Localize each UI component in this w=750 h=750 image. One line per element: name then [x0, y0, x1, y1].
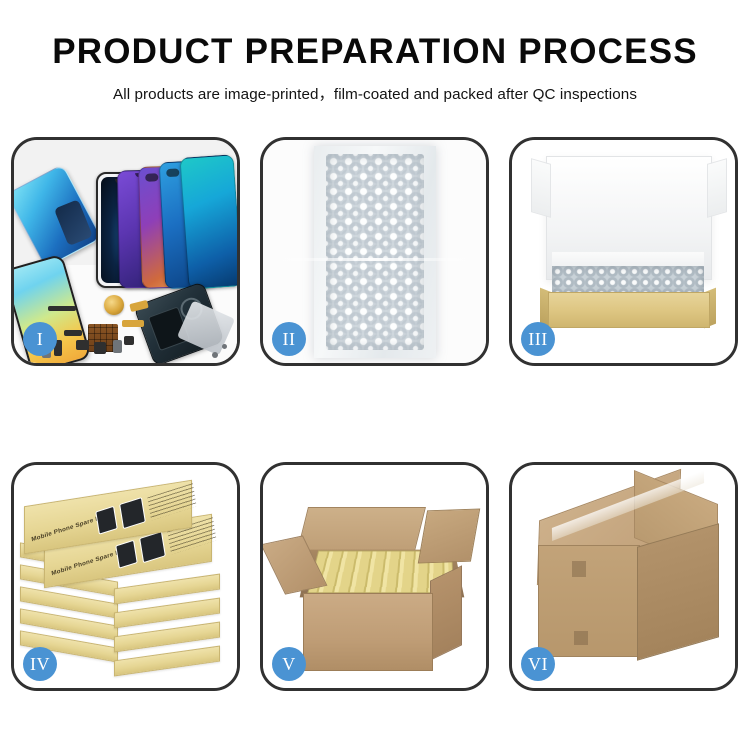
process-step-panel-6[interactable]: VI	[509, 462, 738, 691]
carton-front-face-icon	[538, 545, 640, 657]
button-flex-part-icon	[64, 330, 82, 336]
process-step-grid: I II III	[11, 137, 739, 691]
carton-seam-icon	[574, 631, 588, 645]
flex-cable-part-icon	[122, 320, 144, 327]
step-badge-4: IV	[23, 647, 57, 681]
process-step-panel-3[interactable]: III	[509, 137, 738, 366]
carton-front-icon	[303, 593, 433, 671]
header: PRODUCT PREPARATION PROCESS All products…	[0, 34, 750, 104]
box-print-phone-image	[119, 497, 146, 529]
step-badge-5: V	[272, 647, 306, 681]
box-print-phone-image	[139, 531, 166, 563]
vibration-coil-part-icon	[104, 295, 124, 315]
carton-side-face-icon	[637, 523, 719, 661]
page-title: PRODUCT PREPARATION PROCESS	[0, 34, 750, 71]
box-print-phone-image	[95, 506, 118, 535]
taptic-part-icon	[124, 336, 134, 345]
carton-right-side-icon	[430, 565, 462, 661]
carton-seam-icon	[572, 561, 586, 577]
process-step-panel-5[interactable]: V	[260, 462, 489, 691]
step-badge-2: II	[272, 322, 306, 356]
bubble-wrap-icon	[326, 154, 424, 350]
step-badge-3: III	[521, 322, 555, 356]
screw-part-icon	[212, 352, 218, 358]
kraft-box-front-icon	[548, 292, 710, 328]
screw-part-icon	[222, 344, 227, 349]
camera-part-icon	[76, 340, 89, 350]
page-subtitle: All products are image-printed，film-coat…	[0, 82, 750, 104]
speaker-part-icon	[48, 306, 76, 311]
screw-part-icon	[113, 340, 122, 353]
wrap-seam-icon	[275, 258, 474, 261]
product-preparation-infographic: PRODUCT PREPARATION PROCESS All products…	[0, 0, 750, 750]
bubble-wrapped-product-icon	[552, 266, 704, 294]
box-print-phone-image	[115, 540, 138, 569]
phone-teal-icon	[179, 154, 237, 289]
box-print-spec-lines	[147, 483, 196, 521]
step-badge-1: I	[23, 322, 57, 356]
process-step-panel-2[interactable]: II	[260, 137, 489, 366]
process-step-panel-4[interactable]: Mobile Phone Spare Parts Mobile Phone Sp…	[11, 462, 240, 691]
process-step-panel-1[interactable]: I	[11, 137, 240, 366]
step-badge-6: VI	[521, 647, 555, 681]
battery-connector-icon	[94, 342, 106, 354]
carton-right-flap-icon	[418, 508, 481, 563]
phone-lineup-group	[92, 148, 237, 288]
